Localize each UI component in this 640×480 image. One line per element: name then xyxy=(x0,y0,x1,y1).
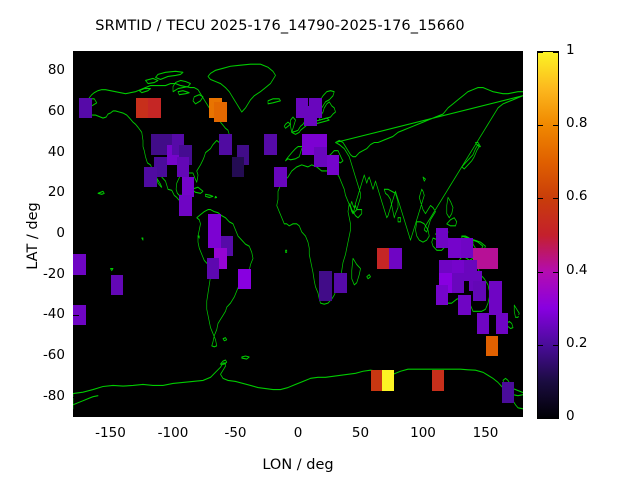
heatmap-cell xyxy=(214,102,227,122)
y-tick-mark xyxy=(517,356,523,357)
x-axis-label: LON / deg xyxy=(73,457,523,473)
heatmap-figure: SRMTID / TECU 2025-176_14790-2025-176_15… xyxy=(0,0,640,480)
heatmap-cell xyxy=(136,98,149,118)
heatmap-cell xyxy=(182,177,195,197)
x-tick-mark xyxy=(423,411,424,417)
heatmap-cell xyxy=(144,167,157,187)
heatmap-cell xyxy=(452,273,465,293)
heatmap-cell xyxy=(436,228,449,248)
heatmap-cell xyxy=(232,157,245,177)
heatmap-cell xyxy=(73,254,86,274)
y-tick-mark xyxy=(73,275,79,276)
page-title: SRMTID / TECU 2025-176_14790-2025-176_15… xyxy=(0,18,560,34)
y-tick-mark xyxy=(517,193,523,194)
heatmap-cell xyxy=(302,134,315,154)
heatmap-cell xyxy=(473,281,486,301)
colorbar-tick-label: 0.8 xyxy=(566,115,587,131)
y-tick-mark xyxy=(517,112,523,113)
colorbar-tick-mark xyxy=(553,272,558,273)
y-tick-label: 60 xyxy=(19,103,65,119)
y-tick-mark xyxy=(73,71,79,72)
y-tick-mark xyxy=(517,153,523,154)
x-tick-label: -50 xyxy=(206,425,266,441)
x-tick-mark xyxy=(361,411,362,417)
heatmap-cell xyxy=(389,248,402,268)
heatmap-cell xyxy=(486,336,499,356)
x-tick-label: 100 xyxy=(393,425,453,441)
colorbar-tick-mark xyxy=(538,125,543,126)
heatmap-cell xyxy=(382,370,395,390)
colorbar-tick-label: 1 xyxy=(566,42,575,58)
colorbar-tick-mark xyxy=(538,52,543,53)
heatmap-cell xyxy=(111,275,124,295)
heatmap-cell xyxy=(458,295,471,315)
map-plot-area[interactable] xyxy=(73,51,523,417)
heatmap-cell xyxy=(274,167,287,187)
heatmap-cell xyxy=(436,285,449,305)
x-tick-mark xyxy=(111,51,112,57)
heatmap-cell xyxy=(79,98,92,118)
y-tick-label: 80 xyxy=(19,62,65,78)
heatmap-cell xyxy=(496,313,509,333)
heatmap-cell xyxy=(334,273,347,293)
y-tick-mark xyxy=(73,193,79,194)
x-tick-mark xyxy=(298,51,299,57)
x-tick-mark xyxy=(486,51,487,57)
colorbar-tick-mark xyxy=(553,345,558,346)
heatmap-cell xyxy=(377,248,390,268)
colorbar-tick-mark xyxy=(538,198,543,199)
x-tick-mark xyxy=(173,51,174,57)
x-tick-mark xyxy=(236,51,237,57)
colorbar-tick-label: 0.4 xyxy=(566,262,587,278)
heatmap-cell xyxy=(238,269,251,289)
heatmap-cell xyxy=(461,238,474,258)
heatmap-cell xyxy=(327,155,340,175)
heatmap-cell xyxy=(477,313,490,333)
colorbar-tick-label: 0 xyxy=(566,408,575,424)
y-tick-mark xyxy=(73,112,79,113)
y-axis-label: LAT / deg xyxy=(25,156,41,316)
y-tick-mark xyxy=(517,275,523,276)
x-tick-mark xyxy=(236,411,237,417)
heatmap-cell xyxy=(264,134,277,154)
x-tick-label: 50 xyxy=(331,425,391,441)
y-tick-mark xyxy=(517,234,523,235)
y-tick-label: -60 xyxy=(19,347,65,363)
heatmap-cell xyxy=(502,382,515,402)
y-tick-label: -80 xyxy=(19,388,65,404)
colorbar-tick-label: 0.2 xyxy=(566,335,587,351)
y-tick-mark xyxy=(517,315,523,316)
heatmap-cell-layer xyxy=(73,51,523,417)
heatmap-cell xyxy=(319,281,332,301)
heatmap-cell xyxy=(177,157,190,177)
heatmap-cell xyxy=(309,98,322,118)
colorbar-tick-mark xyxy=(538,345,543,346)
y-tick-mark xyxy=(517,71,523,72)
heatmap-cell xyxy=(489,295,502,315)
colorbar-tick-mark xyxy=(553,52,558,53)
heatmap-cell xyxy=(314,147,327,167)
x-tick-label: -150 xyxy=(81,425,141,441)
x-tick-label: 0 xyxy=(268,425,328,441)
x-tick-mark xyxy=(361,51,362,57)
x-tick-mark xyxy=(423,51,424,57)
heatmap-cell xyxy=(432,370,445,390)
colorbar-tick-mark xyxy=(553,418,558,419)
colorbar-tick-mark xyxy=(553,198,558,199)
heatmap-cell xyxy=(148,98,161,118)
y-tick-mark xyxy=(73,153,79,154)
colorbar-tick-mark xyxy=(538,418,543,419)
x-tick-label: -100 xyxy=(143,425,203,441)
heatmap-cell xyxy=(207,258,220,278)
colorbar-tick-mark xyxy=(538,272,543,273)
colorbar[interactable] xyxy=(537,51,559,419)
x-tick-mark xyxy=(486,411,487,417)
heatmap-cell xyxy=(486,248,499,268)
x-tick-mark xyxy=(173,411,174,417)
heatmap-cell xyxy=(208,228,221,248)
colorbar-gradient xyxy=(538,52,558,418)
heatmap-cell xyxy=(448,238,461,258)
x-tick-mark xyxy=(111,411,112,417)
colorbar-tick-label: 0.6 xyxy=(566,188,587,204)
x-tick-label: 150 xyxy=(456,425,516,441)
y-tick-mark xyxy=(517,397,523,398)
heatmap-cell xyxy=(179,195,192,215)
y-tick-mark xyxy=(73,397,79,398)
heatmap-cell xyxy=(219,134,232,154)
x-tick-mark xyxy=(298,411,299,417)
y-tick-mark xyxy=(73,315,79,316)
colorbar-tick-mark xyxy=(553,125,558,126)
y-tick-mark xyxy=(73,356,79,357)
y-tick-mark xyxy=(73,234,79,235)
